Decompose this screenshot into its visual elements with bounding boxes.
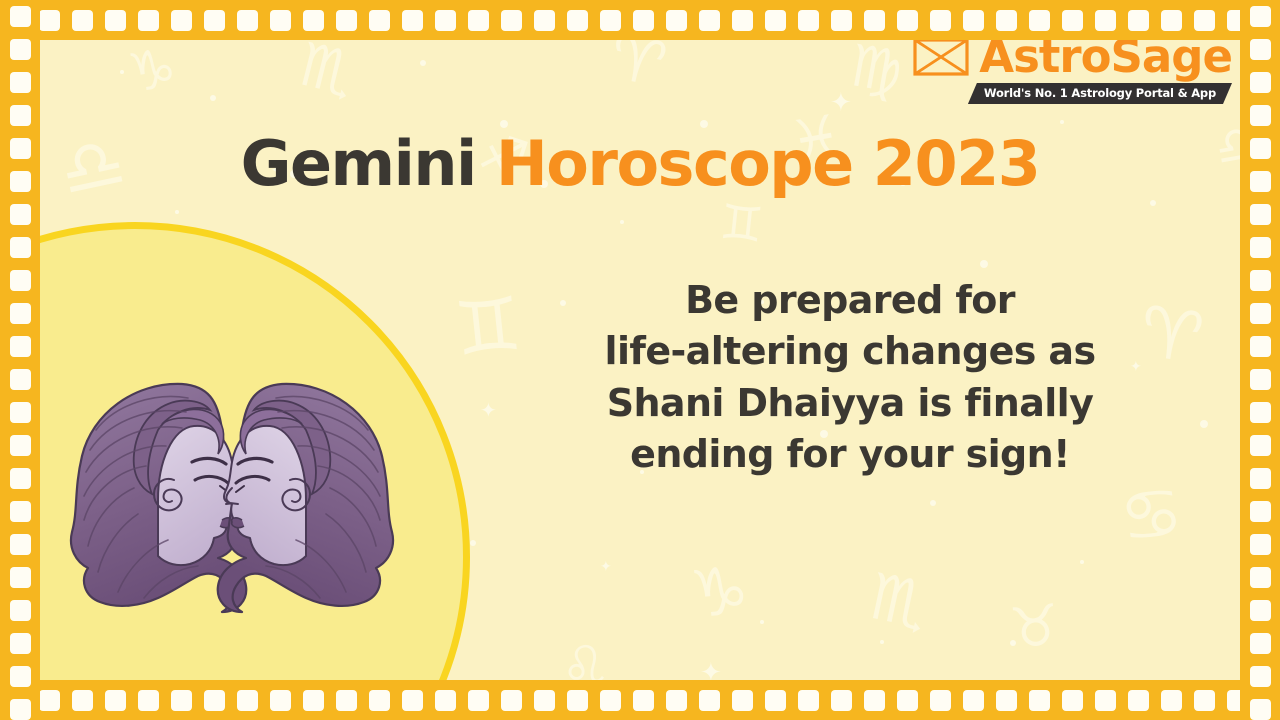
border-notch	[10, 534, 31, 555]
page-title: Gemini Horoscope 2023	[0, 133, 1280, 195]
sparkle-dot-27	[880, 640, 884, 644]
border-notch	[567, 690, 588, 711]
brand-tagline: World's No. 1 Astrology Portal & App	[968, 83, 1232, 104]
sparkle-dot-0	[120, 70, 124, 74]
zodiac-watermark-14: ♉	[1007, 598, 1063, 659]
border-notch	[10, 468, 31, 489]
border-notch	[10, 237, 31, 258]
border-notch	[1250, 204, 1271, 225]
border-notch	[10, 303, 31, 324]
zodiac-watermark-1: ♏	[294, 34, 361, 105]
horoscope-poster: ♎♏♑♐♊♈♓♒♑♏♌♈♋♍♉♐♎♊✦✦✦✦✦✦	[0, 0, 1280, 720]
border-notch	[699, 10, 720, 31]
sparkle-dot-16	[930, 500, 936, 506]
border-notch	[435, 10, 456, 31]
border-notch	[1250, 270, 1271, 291]
page-title-rest: Horoscope 2023	[496, 127, 1039, 200]
border-notch	[732, 10, 753, 31]
border-notch	[1250, 666, 1271, 687]
border-notch	[237, 10, 258, 31]
border-notch	[798, 10, 819, 31]
gemini-twin-right	[218, 384, 393, 612]
zodiac-watermark-11: ♈	[1135, 296, 1207, 374]
sparkle-dot-1	[210, 95, 216, 101]
border-notch	[1250, 435, 1271, 456]
zodiac-watermark-17: ♊	[718, 198, 766, 250]
border-notch	[600, 690, 621, 711]
border-notch	[897, 690, 918, 711]
border-notch	[1250, 138, 1271, 159]
border-notch	[798, 690, 819, 711]
border-notch	[10, 402, 31, 423]
border-notch	[1250, 72, 1271, 93]
zodiac-watermark-8: ♑	[687, 558, 752, 629]
border-notch	[633, 690, 654, 711]
border-notch	[1128, 690, 1149, 711]
border-notch	[666, 690, 687, 711]
border-notch	[10, 633, 31, 654]
sparkle-dot-25	[1010, 640, 1016, 646]
border-notch	[270, 10, 291, 31]
border-notch	[336, 690, 357, 711]
sparkle-dot-24	[760, 620, 764, 624]
sparkle-dot-14	[1200, 420, 1208, 428]
border-notch	[1062, 690, 1083, 711]
brand-wordmark: AstroSage	[979, 34, 1232, 79]
border-notch	[996, 10, 1017, 31]
border-notch	[10, 369, 31, 390]
border-notch	[10, 567, 31, 588]
border-notch	[1029, 10, 1050, 31]
border-notch	[1250, 336, 1271, 357]
border-notch	[237, 690, 258, 711]
border-notch	[567, 10, 588, 31]
border-notch	[204, 690, 225, 711]
border-notch	[435, 690, 456, 711]
sparkle-dot-13	[1150, 200, 1156, 206]
border-notch	[270, 690, 291, 711]
border-notch	[732, 690, 753, 711]
sparkle-dot-15	[1080, 560, 1084, 564]
sparkle-star-2: ✦	[830, 90, 852, 116]
border-notch	[864, 690, 885, 711]
border-notch	[534, 690, 555, 711]
zodiac-watermark-13: ♍	[845, 36, 906, 102]
message-line-1: life-altering changes as	[560, 326, 1140, 377]
border-notch	[1250, 171, 1271, 192]
message-line-0: Be prepared for	[560, 275, 1140, 326]
border-notch	[1250, 633, 1271, 654]
border-notch	[1250, 303, 1271, 324]
border-right	[1240, 0, 1280, 720]
border-notch	[72, 690, 93, 711]
message-line-3: ending for your sign!	[560, 429, 1140, 480]
border-notch	[765, 690, 786, 711]
border-notch	[10, 39, 31, 60]
border-notch	[39, 10, 60, 31]
border-notch	[138, 10, 159, 31]
border-notch	[666, 10, 687, 31]
border-notch	[831, 10, 852, 31]
border-notch	[204, 10, 225, 31]
border-notch	[1128, 10, 1149, 31]
astrosage-logo[interactable]: AstroSage World's No. 1 Astrology Portal…	[932, 34, 1232, 104]
border-notch	[963, 10, 984, 31]
border-notch	[303, 10, 324, 31]
sparkle-dot-3	[175, 210, 179, 214]
border-notch	[930, 10, 951, 31]
border-notch	[402, 690, 423, 711]
border-notch	[1250, 468, 1271, 489]
border-notch	[336, 10, 357, 31]
border-notch	[10, 699, 31, 720]
sparkle-dot-6	[620, 220, 624, 224]
border-notch	[39, 690, 60, 711]
border-notch	[996, 690, 1017, 711]
border-notch	[1250, 699, 1271, 720]
border-notch	[303, 690, 324, 711]
border-notch	[1194, 690, 1215, 711]
border-notch	[963, 690, 984, 711]
border-notch	[10, 501, 31, 522]
border-notch	[105, 10, 126, 31]
border-notch	[10, 138, 31, 159]
border-notch	[369, 10, 390, 31]
border-notch	[1194, 10, 1215, 31]
border-notch	[138, 690, 159, 711]
horoscope-message: Be prepared forlife-altering changes asS…	[560, 275, 1140, 480]
zodiac-watermark-12: ♋	[1115, 476, 1187, 554]
border-top	[0, 0, 1280, 40]
border-notch	[765, 10, 786, 31]
border-notch	[699, 690, 720, 711]
astrosage-logo-mark-icon	[912, 36, 970, 78]
border-notch	[1250, 402, 1271, 423]
border-notch	[1161, 10, 1182, 31]
sparkle-dot-12	[1060, 120, 1064, 124]
border-notch	[1161, 690, 1182, 711]
sparkle-dot-19	[470, 540, 476, 546]
border-notch	[10, 6, 31, 27]
border-notch	[402, 10, 423, 31]
border-notch	[105, 690, 126, 711]
zodiac-watermark-9: ♏	[864, 565, 933, 640]
border-notch	[10, 435, 31, 456]
border-notch	[171, 10, 192, 31]
border-notch	[831, 690, 852, 711]
border-notch	[10, 72, 31, 93]
zodiac-watermark-2: ♑	[124, 41, 179, 101]
border-notch	[1250, 369, 1271, 390]
border-notch	[864, 10, 885, 31]
border-notch	[501, 690, 522, 711]
border-bottom	[0, 680, 1280, 720]
border-notch	[171, 690, 192, 711]
border-notch	[1095, 10, 1116, 31]
border-notch	[1250, 534, 1271, 555]
message-line-2: Shani Dhaiyya is finally	[560, 378, 1140, 429]
border-notch	[501, 10, 522, 31]
border-notch	[1250, 237, 1271, 258]
border-notch	[369, 690, 390, 711]
border-notch	[600, 10, 621, 31]
page-title-sign: Gemini	[241, 127, 476, 200]
border-notch	[1250, 39, 1271, 60]
border-notch	[1250, 501, 1271, 522]
border-notch	[10, 336, 31, 357]
border-notch	[1250, 105, 1271, 126]
border-notch	[1029, 690, 1050, 711]
sparkle-dot-4	[420, 60, 426, 66]
gemini-twins-illustration	[62, 370, 402, 620]
border-notch	[10, 105, 31, 126]
sparkle-dot-11	[980, 260, 988, 268]
border-notch	[10, 600, 31, 621]
border-notch	[1250, 567, 1271, 588]
border-notch	[897, 10, 918, 31]
border-notch	[633, 10, 654, 31]
border-notch	[10, 171, 31, 192]
border-notch	[1062, 10, 1083, 31]
border-notch	[1250, 600, 1271, 621]
border-notch	[10, 666, 31, 687]
border-notch	[10, 204, 31, 225]
border-notch	[1095, 690, 1116, 711]
border-notch	[534, 10, 555, 31]
zodiac-watermark-4: ♊	[451, 287, 525, 368]
border-notch	[930, 690, 951, 711]
border-notch	[468, 10, 489, 31]
sparkle-star-4: ✦	[480, 400, 497, 420]
border-notch	[1250, 6, 1271, 27]
border-notch	[468, 690, 489, 711]
sparkle-star-0: ✦	[600, 560, 612, 574]
border-notch	[72, 10, 93, 31]
border-notch	[10, 270, 31, 291]
border-left	[0, 0, 40, 720]
